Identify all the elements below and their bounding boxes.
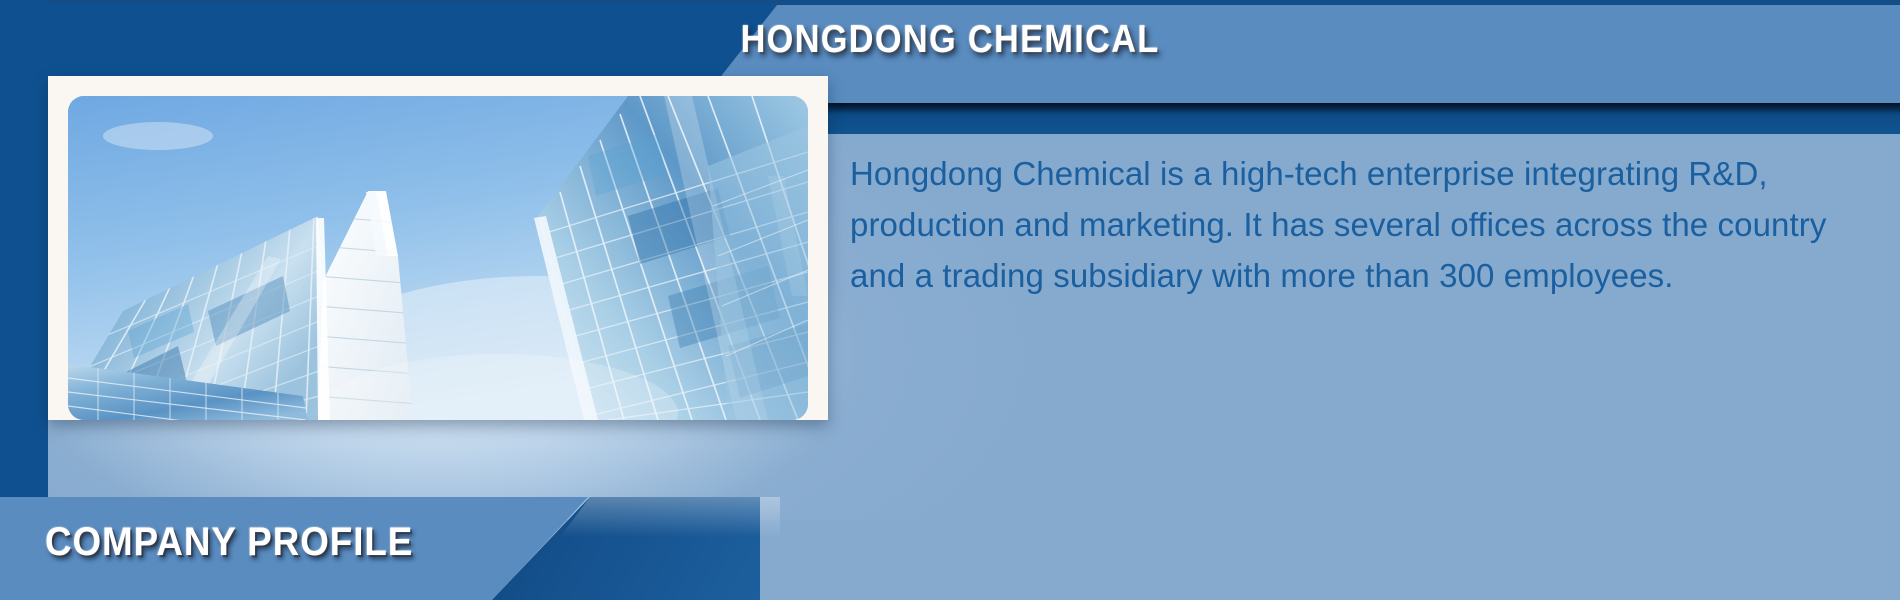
left-navy-strip <box>0 0 48 497</box>
section-title: COMPANY PROFILE <box>45 520 413 565</box>
building-photo <box>68 96 808 420</box>
company-profile-banner: HONGDONG CHEMICAL <box>0 0 1900 600</box>
top-rule <box>0 0 1900 5</box>
page-title-text: HONGDONG CHEMICAL <box>740 18 1159 62</box>
header-underline-shadow <box>828 103 1900 113</box>
footer-wedge-highlight <box>560 497 780 537</box>
company-description: Hongdong Chemical is a high-tech enterpr… <box>850 148 1870 301</box>
page-title: HONGDONG CHEMICAL <box>0 18 1900 62</box>
